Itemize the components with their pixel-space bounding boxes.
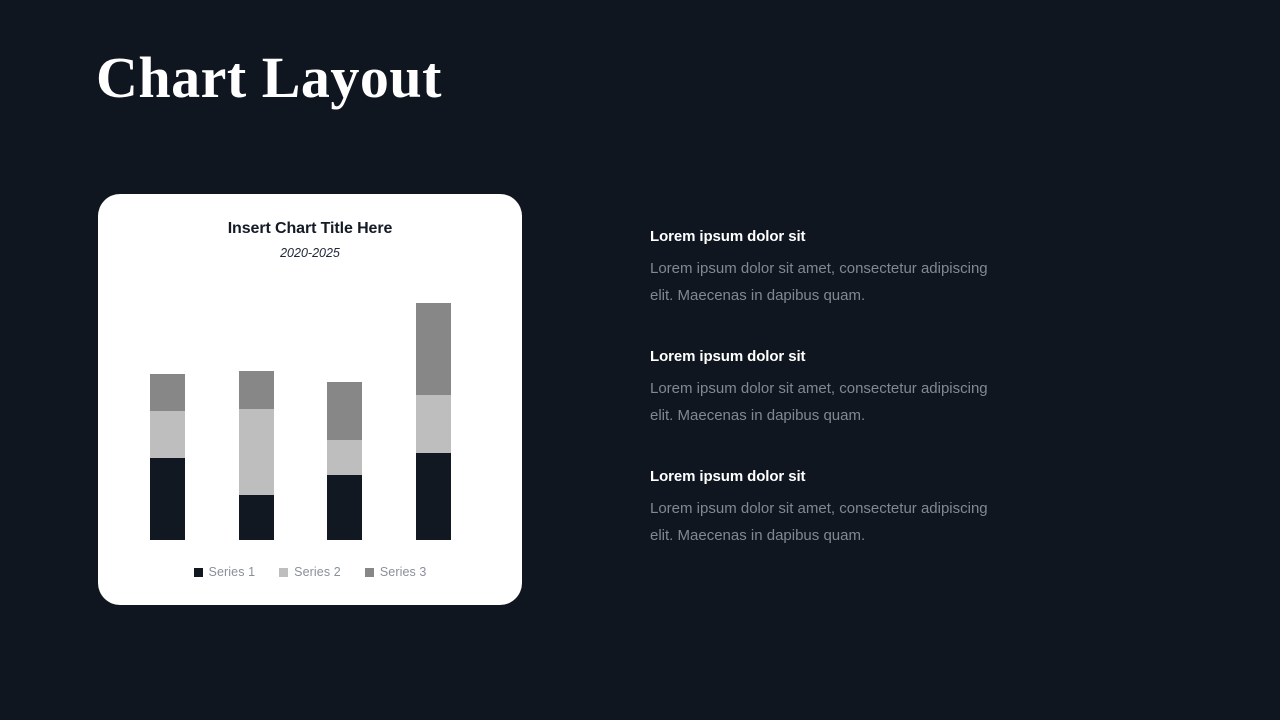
chart-plot-area — [98, 194, 522, 605]
bar-segment[interactable] — [239, 371, 274, 409]
text-block-body: Lorem ipsum dolor sit amet, consectetur … — [650, 495, 1002, 549]
bar-group[interactable] — [327, 382, 362, 540]
bar-segment[interactable] — [416, 395, 451, 453]
text-block-body: Lorem ipsum dolor sit amet, consectetur … — [650, 255, 1002, 309]
legend-label: Series 1 — [209, 565, 256, 579]
legend-swatch-icon — [279, 568, 288, 577]
bar-segment[interactable] — [327, 440, 362, 475]
bar-segment[interactable] — [239, 409, 274, 495]
text-block-heading: Lorem ipsum dolor sit — [650, 466, 1020, 488]
bar-group[interactable] — [150, 374, 185, 540]
bar-segment[interactable] — [150, 458, 185, 540]
bar-segment[interactable] — [327, 382, 362, 440]
text-block: Lorem ipsum dolor sitLorem ipsum dolor s… — [650, 466, 1020, 549]
legend-item[interactable]: Series 3 — [365, 565, 427, 579]
text-block-heading: Lorem ipsum dolor sit — [650, 226, 1020, 248]
bar-segment[interactable] — [239, 495, 274, 540]
legend-item[interactable]: Series 2 — [279, 565, 341, 579]
legend-item[interactable]: Series 1 — [194, 565, 256, 579]
text-block-body: Lorem ipsum dolor sit amet, consectetur … — [650, 375, 1002, 429]
legend-label: Series 3 — [380, 565, 427, 579]
bar-segment[interactable] — [150, 374, 185, 411]
bar-segment[interactable] — [416, 453, 451, 540]
page-title: Chart Layout — [96, 44, 442, 112]
chart-card: Insert Chart Title Here 2020-2025 Series… — [98, 194, 522, 605]
legend-swatch-icon — [194, 568, 203, 577]
legend-swatch-icon — [365, 568, 374, 577]
legend-label: Series 2 — [294, 565, 341, 579]
bar-group[interactable] — [239, 371, 274, 540]
bar-group[interactable] — [416, 303, 451, 540]
bar-segment[interactable] — [150, 411, 185, 458]
text-block: Lorem ipsum dolor sitLorem ipsum dolor s… — [650, 346, 1020, 429]
bar-segment[interactable] — [327, 475, 362, 540]
text-block-heading: Lorem ipsum dolor sit — [650, 346, 1020, 368]
text-column: Lorem ipsum dolor sitLorem ipsum dolor s… — [650, 226, 1020, 549]
chart-legend: Series 1Series 2Series 3 — [98, 565, 522, 579]
bar-segment[interactable] — [416, 303, 451, 395]
text-block: Lorem ipsum dolor sitLorem ipsum dolor s… — [650, 226, 1020, 309]
